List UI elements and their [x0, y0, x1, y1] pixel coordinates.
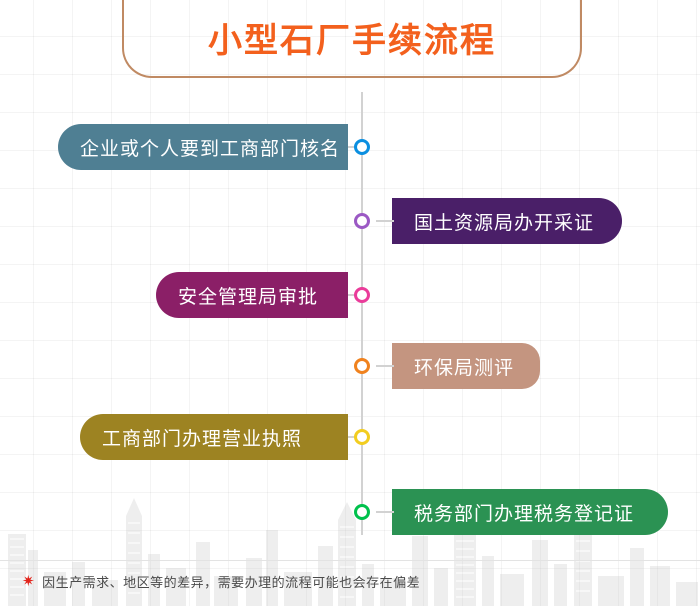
timeline-step-4[interactable]: 环保局测评: [362, 343, 700, 389]
step-1-label: 企业或个人要到工商部门核名: [80, 134, 340, 161]
timeline-step-2[interactable]: 国土资源局办开采证: [362, 198, 700, 244]
asterisk-icon: ✷: [22, 574, 35, 589]
timeline-step-3[interactable]: 安全管理局审批: [0, 272, 362, 318]
infographic-canvas: 小型石厂手续流程 企业或个人要到工商部门核名 国土资源局办开采证 安全管理局审批…: [0, 0, 700, 606]
step-5-label: 工商部门办理营业执照: [102, 424, 302, 451]
step-2-label: 国土资源局办开采证: [414, 208, 594, 235]
footer-note-text: 因生产需求、地区等的差异，需要办理的流程可能也会存在偏差: [42, 572, 420, 591]
step-5-node[interactable]: [354, 429, 370, 445]
step-4-bar[interactable]: 环保局测评: [392, 343, 540, 389]
timeline-step-5[interactable]: 工商部门办理营业执照: [0, 414, 362, 460]
timeline-step-6[interactable]: 税务部门办理税务登记证: [362, 489, 700, 535]
step-6-node[interactable]: [354, 504, 370, 520]
step-6-label: 税务部门办理税务登记证: [414, 499, 634, 526]
footer-note: ✷ 因生产需求、地区等的差异，需要办理的流程可能也会存在偏差: [22, 572, 420, 591]
step-3-node[interactable]: [354, 287, 370, 303]
footer-divider: [0, 560, 700, 561]
timeline-step-1[interactable]: 企业或个人要到工商部门核名: [0, 124, 362, 170]
step-3-label: 安全管理局审批: [178, 282, 318, 309]
step-4-node[interactable]: [354, 358, 370, 374]
step-4-label: 环保局测评: [414, 353, 514, 380]
step-1-bar[interactable]: 企业或个人要到工商部门核名: [58, 124, 348, 170]
step-2-bar[interactable]: 国土资源局办开采证: [392, 198, 622, 244]
step-1-node[interactable]: [354, 139, 370, 155]
step-2-connector: [376, 220, 394, 222]
step-4-connector: [376, 365, 394, 367]
step-2-node[interactable]: [354, 213, 370, 229]
step-5-bar[interactable]: 工商部门办理营业执照: [80, 414, 348, 460]
step-3-bar[interactable]: 安全管理局审批: [156, 272, 348, 318]
page-title: 小型石厂手续流程: [122, 18, 582, 64]
step-6-bar[interactable]: 税务部门办理税务登记证: [392, 489, 668, 535]
step-6-connector: [376, 511, 394, 513]
